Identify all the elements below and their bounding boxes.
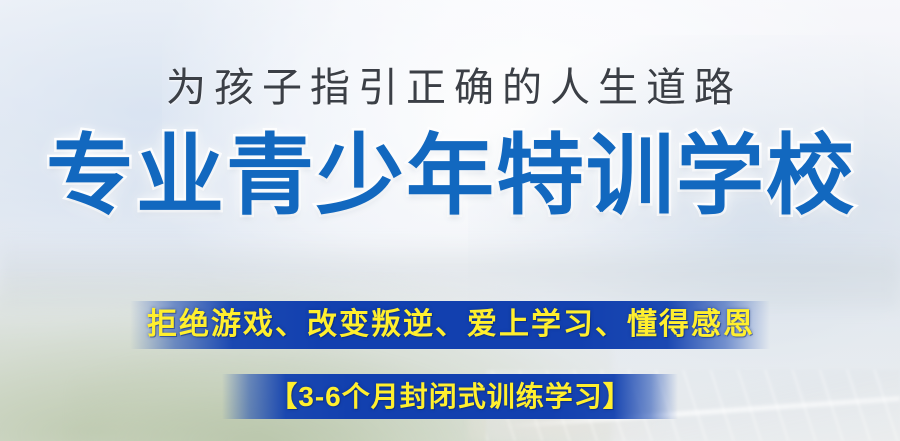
banner-content: 为孩子指引正确的人生道路 专业青少年特训学校 拒绝游戏、改变叛逆、爱上学习、懂得… xyxy=(0,0,900,441)
ribbon-secondary-text: 【3-6个月封闭式训练学习】 xyxy=(268,374,631,419)
banner-ribbon-primary: 拒绝游戏、改变叛逆、爱上学习、懂得感恩 xyxy=(0,301,900,349)
promo-banner: 为孩子指引正确的人生道路 专业青少年特训学校 拒绝游戏、改变叛逆、爱上学习、懂得… xyxy=(0,0,900,441)
banner-ribbon-secondary: 【3-6个月封闭式训练学习】 xyxy=(0,374,900,419)
ribbon-primary-text: 拒绝游戏、改变叛逆、爱上学习、懂得感恩 xyxy=(145,301,755,349)
banner-headline: 专业青少年特训学校 xyxy=(0,128,900,224)
banner-subtitle: 为孩子指引正确的人生道路 xyxy=(0,62,900,114)
